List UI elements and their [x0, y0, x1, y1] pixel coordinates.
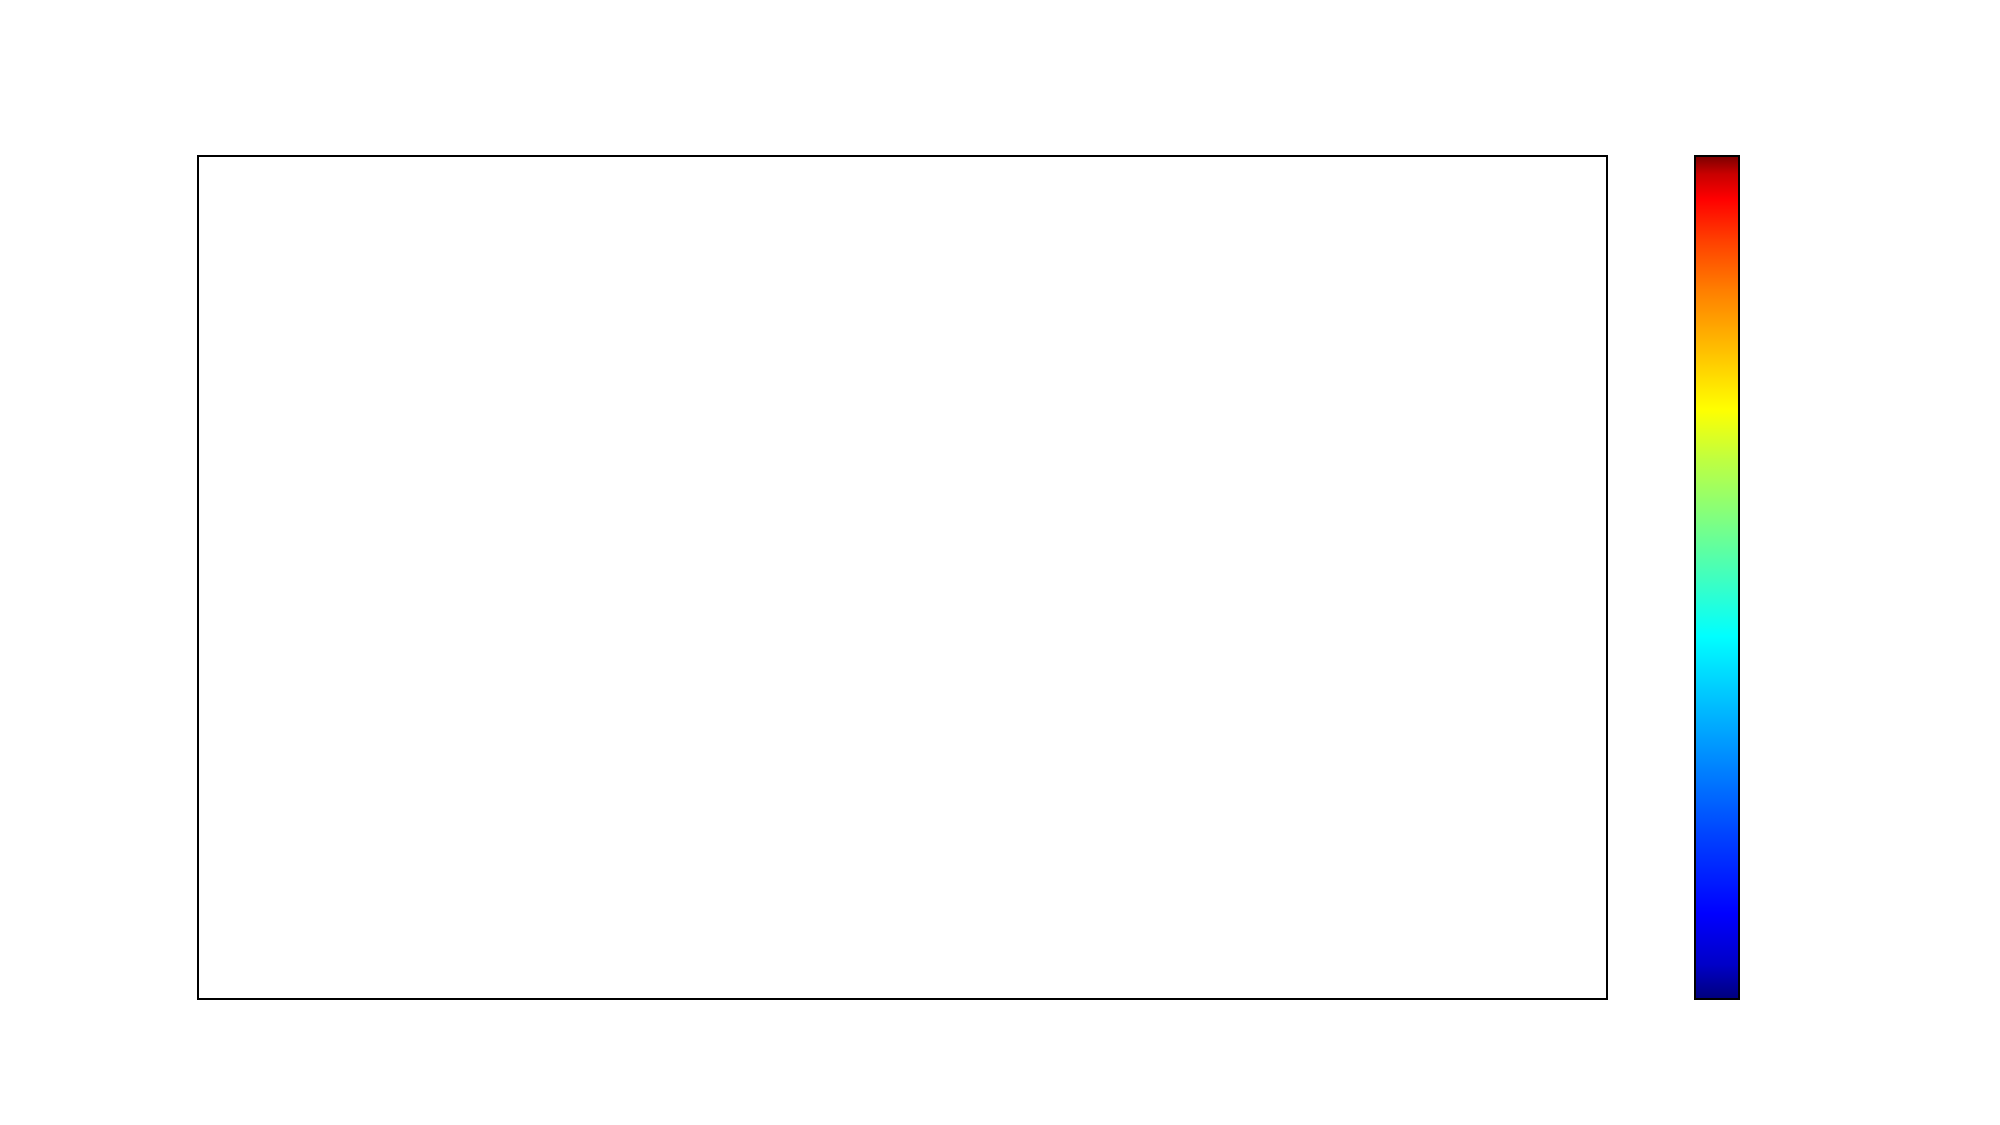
dynamic-spectrum-axes[interactable] — [197, 155, 1608, 1000]
heatmap-image — [199, 157, 1606, 998]
colorbar[interactable] — [1694, 155, 1740, 1000]
figure-canvas — [0, 0, 2000, 1125]
